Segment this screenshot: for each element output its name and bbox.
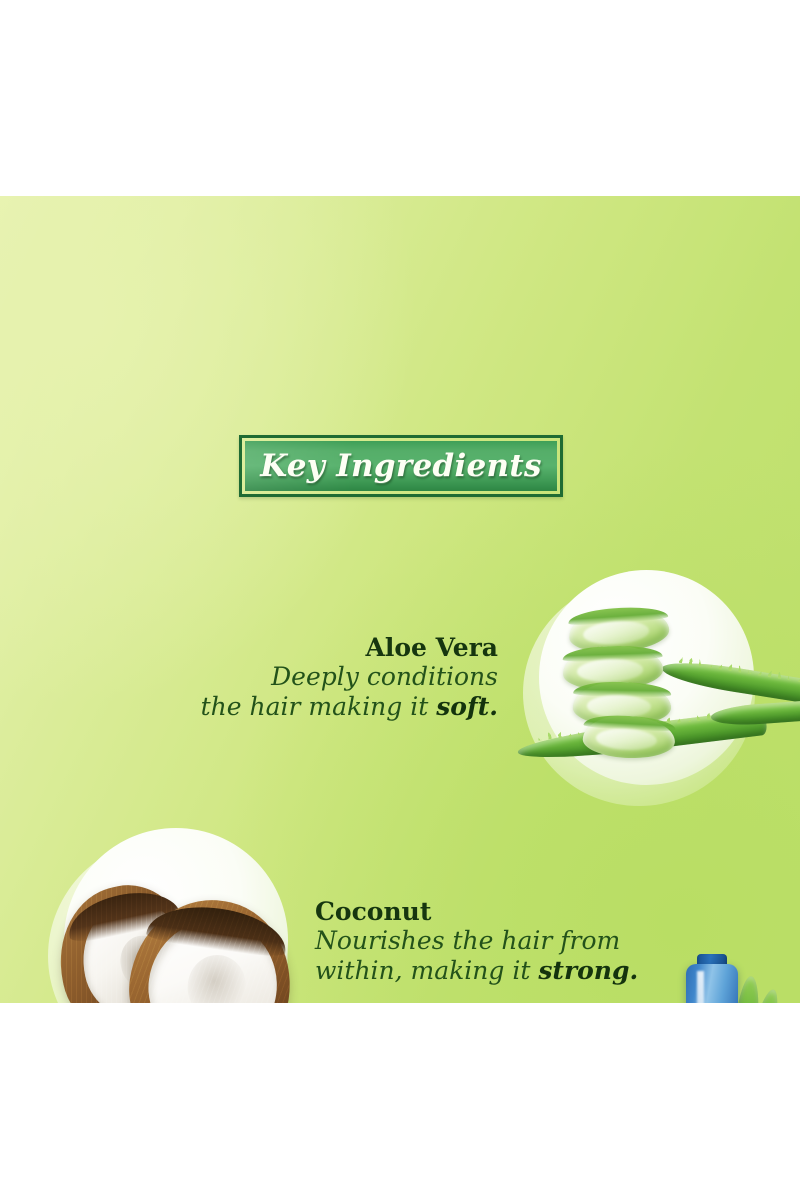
key-ingredients-banner: Key Ingredients	[239, 435, 563, 497]
product-bottle: Parachute ADVANSED Aloe Vera	[686, 964, 738, 1003]
aloe-slice-gel	[577, 658, 644, 683]
product-pack-shot: Parachute ADVANSED Aloe Vera	[650, 954, 800, 1003]
aloe-desc-emphasis: soft.	[436, 692, 498, 721]
product-info-card: Key Ingredients	[0, 0, 800, 1200]
banner-fill: Key Ingredients	[245, 441, 557, 491]
ingredient-desc-coconut: Nourishes the hair from within, making i…	[315, 926, 663, 985]
coconut-desc-emphasis: strong.	[538, 956, 638, 985]
coconut-text-block: Coconut Nourishes the hair from within, …	[315, 898, 663, 985]
page-title: Key Ingredients	[260, 448, 542, 484]
aloe-desc-line2: the hair making it	[201, 692, 437, 721]
ingredient-name-coconut: Coconut	[315, 898, 663, 926]
bottle-highlight	[697, 971, 703, 1003]
coconut-halves-image	[38, 824, 328, 1003]
aloe-desc-line1: Deeply conditions	[271, 662, 498, 691]
aloe-vera-slices-image	[515, 564, 800, 819]
ingredient-name-aloe-vera: Aloe Vera	[150, 634, 498, 662]
green-content-panel: Key Ingredients	[0, 196, 800, 1003]
coconut-desc-line1: Nourishes the hair from	[315, 926, 620, 955]
aloe-vera-text-block: Aloe Vera Deeply conditions the hair mak…	[150, 634, 498, 721]
ingredient-desc-aloe-vera: Deeply conditions the hair making it sof…	[150, 662, 498, 721]
coconut-desc-line2: within, making it	[315, 956, 538, 985]
